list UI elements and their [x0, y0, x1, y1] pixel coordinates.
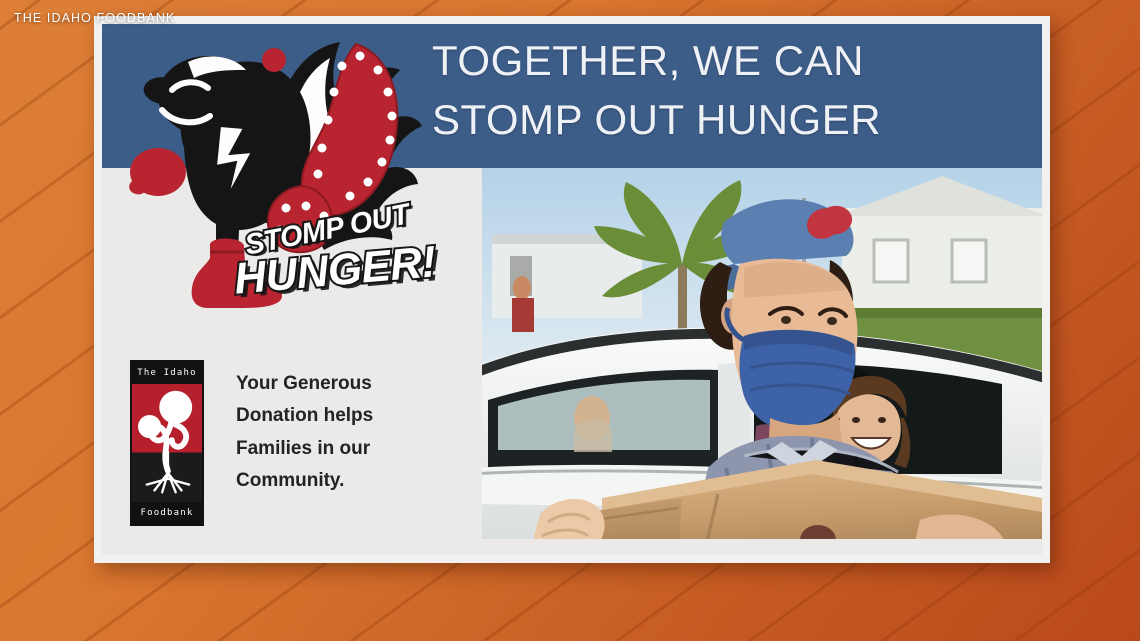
- donation-message: Your Generous Donation helps Families in…: [236, 360, 373, 497]
- logo-artwork: [132, 384, 202, 502]
- logo-top-text: The Idaho: [132, 362, 202, 384]
- food-distribution-photo: [482, 168, 1042, 555]
- poster-footer: The Idaho: [130, 360, 373, 526]
- broadcast-frame: TOGETHER, WE CAN STOMP OUT HUNGER: [0, 0, 1140, 641]
- logo-plant-icon: [132, 384, 202, 502]
- idaho-foodbank-logo: The Idaho: [130, 360, 204, 526]
- stomp-out-hunger-wordmark: STOMP OUT HUNGER!: [230, 196, 480, 311]
- poster-card: TOGETHER, WE CAN STOMP OUT HUNGER: [94, 16, 1050, 563]
- broadcast-source-label: THE IDAHO FOODBANK: [14, 11, 175, 25]
- poster-card-inner: TOGETHER, WE CAN STOMP OUT HUNGER: [102, 24, 1042, 555]
- logo-bottom-text: Foodbank: [132, 502, 202, 524]
- poster-headline: TOGETHER, WE CAN STOMP OUT HUNGER: [432, 32, 1032, 150]
- poster-bottom-margin: [102, 539, 1042, 555]
